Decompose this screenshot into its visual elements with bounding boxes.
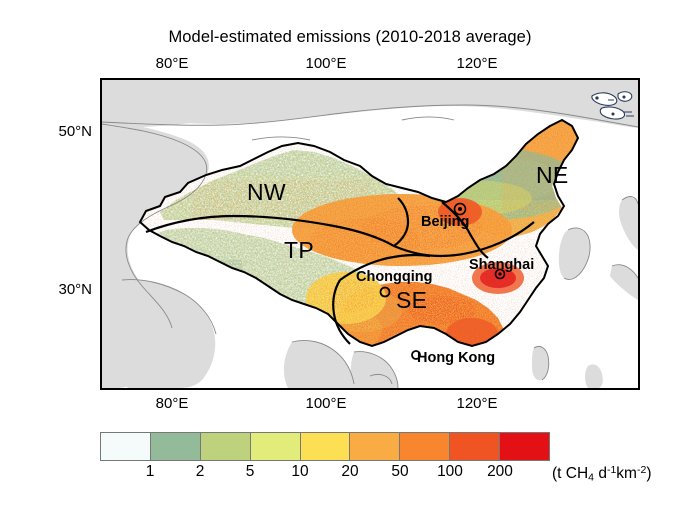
lon-tick-top-100e: 100°E xyxy=(281,55,371,72)
colorbar-tick-1: 1 xyxy=(146,463,155,481)
colorbar-unit-label: (t CH4 d-1km-2) xyxy=(552,464,651,483)
colorbar-segment-7 xyxy=(400,433,450,460)
colorbar-tick-100: 100 xyxy=(437,463,463,481)
colorbar-segment-6 xyxy=(350,433,400,460)
colorbar xyxy=(100,432,550,461)
lon-tick-top-80e: 80°E xyxy=(127,55,217,72)
lon-tick-bottom-120e: 120°E xyxy=(432,395,522,412)
colorbar-tick-20: 20 xyxy=(341,463,358,481)
unit-km: km xyxy=(616,465,637,482)
colorbar-segment-5 xyxy=(301,433,351,460)
region-label-se: SE xyxy=(396,289,427,312)
unit-prefix: (t CH xyxy=(552,465,588,482)
unit-suffix: ) xyxy=(646,465,651,482)
lon-tick-top-120e: 120°E xyxy=(432,55,522,72)
city-label-shanghai: Shanghai xyxy=(469,258,534,273)
colorbar-segment-1 xyxy=(101,433,151,460)
colorbar-tick-5: 5 xyxy=(246,463,255,481)
beijing-marker-dot xyxy=(458,207,462,211)
colorbar-segment-9 xyxy=(500,433,549,460)
colorbar-tick-labels: 1 2 5 10 20 50 100 200 xyxy=(100,463,550,485)
colorbar-tick-50: 50 xyxy=(391,463,408,481)
unit-sup-minus1: -1 xyxy=(607,464,616,476)
colorbar-segment-4 xyxy=(251,433,301,460)
region-label-tp: TP xyxy=(284,239,314,262)
city-label-chongqing: Chongqing xyxy=(356,270,433,285)
figure-title: Model-estimated emissions (2010-2018 ave… xyxy=(0,28,700,47)
colorbar-segment-2 xyxy=(151,433,201,460)
colorbar-tick-2: 2 xyxy=(196,463,205,481)
unit-mid: d xyxy=(594,465,607,482)
colorbar-tick-10: 10 xyxy=(291,463,308,481)
colorbar-segment-8 xyxy=(450,433,500,460)
region-label-nw: NW xyxy=(247,181,286,204)
emissions-map: NW TP NE SE Beijing Shanghai Chongqing H… xyxy=(100,78,640,390)
map-graphic xyxy=(102,80,638,388)
colorbar-segment-3 xyxy=(201,433,251,460)
lon-tick-bottom-100e: 100°E xyxy=(281,395,371,412)
city-label-beijing: Beijing xyxy=(421,215,469,230)
figure-panel: Model-estimated emissions (2010-2018 ave… xyxy=(0,0,700,524)
colorbar-tick-200: 200 xyxy=(487,463,513,481)
unit-sup-minus2: -2 xyxy=(637,464,646,476)
city-label-hong-kong: Hong Kong xyxy=(417,351,495,366)
lon-tick-bottom-80e: 80°E xyxy=(127,395,217,412)
lat-tick-30n: 30°N xyxy=(22,281,92,298)
region-label-ne: NE xyxy=(536,164,569,187)
lat-tick-50n: 50°N xyxy=(22,123,92,140)
